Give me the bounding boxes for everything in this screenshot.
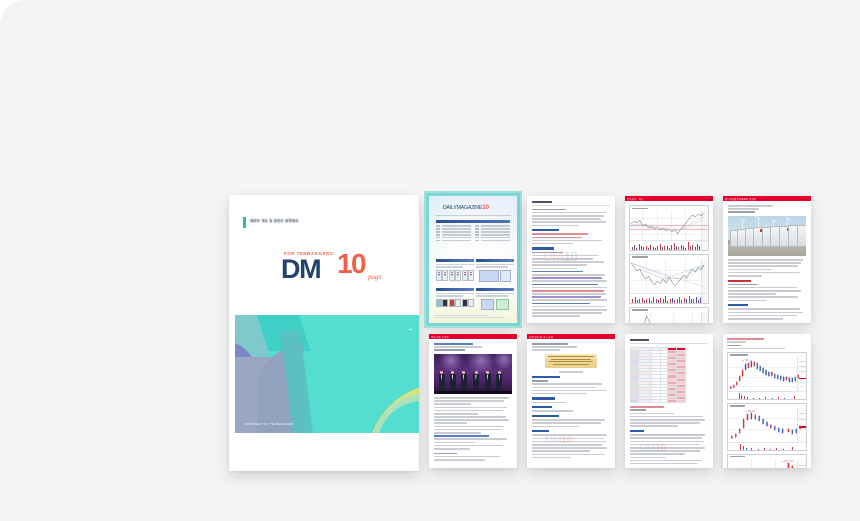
toc-row[interactable] bbox=[475, 234, 510, 236]
stage-photo-article-page[interactable]: 주요 이슈 브리핑 bbox=[429, 334, 517, 468]
page-header-label: 종목분석 · 차트 bbox=[627, 197, 644, 201]
content-block-line bbox=[476, 293, 514, 294]
thumbnail-row[interactable] bbox=[476, 299, 514, 310]
table-of-contents[interactable] bbox=[436, 220, 510, 243]
page-title bbox=[630, 339, 649, 341]
section-heading bbox=[532, 397, 555, 399]
article-photo bbox=[434, 354, 512, 394]
chart-card[interactable] bbox=[629, 254, 709, 304]
cover-top-line: 테마주 개요 및 관련주 종목정리 bbox=[250, 218, 299, 223]
cover-page[interactable]: 테마주 개요 및 관련주 종목정리 FOR TENBAGGERS. DM 10 … bbox=[229, 195, 419, 471]
section-heading bbox=[728, 304, 748, 306]
thumbnail-row[interactable] bbox=[436, 299, 474, 307]
cover-logo: FOR TENBAGGERS. DM 10 page bbox=[281, 251, 397, 289]
toc-row[interactable] bbox=[436, 228, 471, 230]
content-block[interactable] bbox=[436, 259, 474, 281]
content-block-line bbox=[436, 293, 474, 294]
cover-logo-dm: DM bbox=[281, 256, 320, 283]
chart-card[interactable]: ▲ 급등구간 bbox=[727, 403, 807, 451]
cover-logo-page: page bbox=[368, 273, 382, 281]
content-block-line bbox=[476, 264, 514, 265]
divider bbox=[630, 343, 708, 344]
chart-card[interactable]: ▲ 고점 bbox=[727, 352, 807, 400]
section-heading bbox=[532, 406, 552, 408]
toc-row[interactable] bbox=[436, 237, 471, 239]
watermark: DM10 bbox=[639, 442, 666, 454]
toc-row[interactable] bbox=[475, 228, 510, 230]
content-block[interactable] bbox=[436, 288, 474, 307]
page-title bbox=[727, 338, 764, 340]
content-block-header bbox=[476, 288, 514, 291]
cover-art-dot bbox=[409, 329, 412, 330]
content-block[interactable] bbox=[476, 259, 514, 282]
table-row[interactable] bbox=[631, 400, 686, 403]
price-chart bbox=[630, 259, 708, 293]
toc-row[interactable] bbox=[436, 231, 471, 233]
section-heading bbox=[532, 229, 559, 231]
toc-row[interactable] bbox=[475, 225, 510, 227]
data-table[interactable] bbox=[630, 347, 686, 404]
content-block-header bbox=[476, 259, 514, 262]
content-block-header bbox=[436, 288, 474, 291]
data-table-page[interactable]: DM10 bbox=[625, 334, 713, 468]
page-header-label: 주요 이슈 브리핑 bbox=[431, 335, 449, 339]
toc-row[interactable] bbox=[475, 231, 510, 233]
content-block-line bbox=[476, 295, 508, 296]
price-chart bbox=[630, 312, 708, 323]
thumbnail-row[interactable] bbox=[476, 270, 514, 282]
toc-row[interactable] bbox=[436, 225, 471, 227]
masthead-rule bbox=[435, 215, 511, 216]
contents-page[interactable]: DAILYMAGAZINE10 bbox=[429, 196, 517, 323]
chart-card[interactable]: ▲ 52주 신고가 bbox=[727, 454, 807, 468]
page-header-bar: 주요 이슈 브리핑 bbox=[429, 334, 517, 339]
chart-card[interactable] bbox=[629, 307, 709, 323]
page-title bbox=[532, 201, 552, 203]
toc-header-bar bbox=[436, 220, 510, 223]
candlestick-chart: ▲ 고점 bbox=[728, 357, 806, 391]
document-preview-canvas: 테마주 개요 및 관련주 종목정리 FOR TENBAGGERS. DM 10 … bbox=[0, 0, 860, 521]
page-header-label: 에너지저장장치(ESS) 관련주 bbox=[725, 197, 756, 201]
content-block-line bbox=[436, 264, 474, 265]
divider bbox=[532, 205, 610, 206]
page-header-bar: 실적 발표 및 공시 요약 bbox=[527, 334, 615, 339]
toc-row[interactable] bbox=[436, 234, 471, 236]
watermark: DM10 bbox=[545, 434, 572, 446]
masthead: DAILYMAGAZINE10 bbox=[443, 204, 489, 211]
candlestick-chart-page[interactable]: ▲ 고점 bbox=[723, 334, 811, 468]
content-block-line bbox=[436, 266, 463, 267]
page-header-bar: 에너지저장장치(ESS) 관련주 bbox=[723, 196, 811, 201]
volume-chart bbox=[630, 240, 708, 250]
thumbnail-row[interactable] bbox=[436, 270, 474, 281]
page-header-bar: 종목분석 · 차트 bbox=[625, 196, 713, 201]
gold-highlight-article-page[interactable]: 실적 발표 및 공시 요약 bbox=[527, 334, 615, 468]
cover-artwork: COPYRIGHT BY TENBAGGERS bbox=[235, 315, 419, 433]
price-chart bbox=[630, 210, 708, 240]
volume-chart bbox=[728, 442, 806, 450]
chart-card[interactable] bbox=[629, 205, 709, 251]
toc-row[interactable] bbox=[475, 240, 510, 242]
masthead-text: DAILYMAGAZINE bbox=[443, 205, 482, 211]
volume-chart bbox=[630, 293, 708, 303]
section-heading bbox=[532, 247, 554, 249]
section-heading bbox=[630, 430, 644, 432]
content-block-header bbox=[436, 259, 474, 262]
battery-storage-article-page[interactable]: 에너지저장장치(ESS) 관련주 bbox=[723, 196, 811, 323]
contents-footer bbox=[435, 315, 511, 319]
masthead-number: 10 bbox=[482, 204, 489, 211]
section-heading bbox=[728, 280, 751, 282]
cover-accent-bar bbox=[243, 217, 246, 228]
article-text-page[interactable]: DM10 bbox=[527, 196, 615, 323]
cover-logo-10: 10 bbox=[337, 250, 365, 278]
toc-row[interactable] bbox=[475, 237, 510, 239]
candlestick-chart: ▲ 급등구간 bbox=[728, 408, 806, 442]
volume-chart bbox=[728, 391, 806, 399]
page-header-label: 실적 발표 및 공시 요약 bbox=[529, 335, 553, 339]
toc-column-left bbox=[436, 225, 471, 242]
highlight-box bbox=[545, 354, 597, 368]
toc-row[interactable] bbox=[436, 240, 471, 242]
section-heading bbox=[532, 415, 559, 417]
content-block-line bbox=[436, 295, 463, 296]
cover-copyright: COPYRIGHT BY TENBAGGERS bbox=[243, 422, 294, 426]
article-photo bbox=[728, 216, 806, 256]
content-block[interactable] bbox=[476, 288, 514, 310]
candlestick-chart: ▲ 52주 신고가 bbox=[728, 459, 806, 468]
toc-column-right bbox=[475, 225, 510, 242]
content-block-line bbox=[476, 266, 508, 267]
stock-chart-page[interactable]: 종목분석 · 차트 bbox=[625, 196, 713, 323]
section-heading bbox=[532, 376, 560, 378]
section-heading bbox=[532, 430, 549, 432]
